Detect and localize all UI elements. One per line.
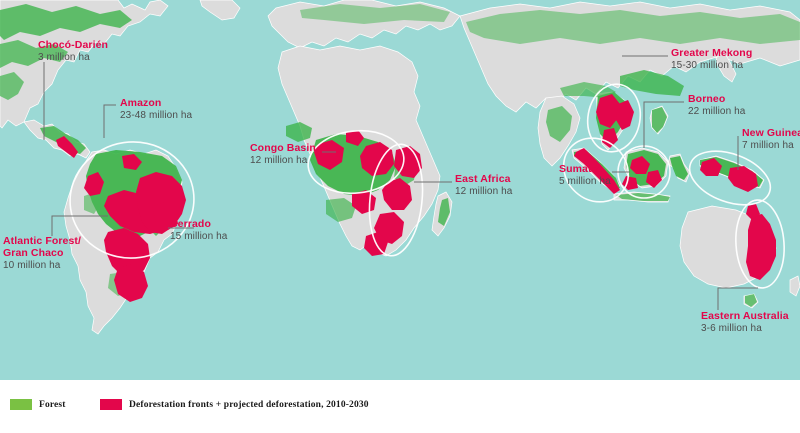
label-new-guinea-value: 7 million ha: [742, 140, 800, 151]
label-greater-mekong-value: 15-30 million ha: [671, 60, 752, 71]
label-amazon-value: 23-48 million ha: [120, 110, 192, 121]
legend-swatch-deforestation: [100, 399, 122, 410]
label-amazon-name: Amazon: [120, 98, 192, 110]
label-eastern-australia: Eastern Australia 3-6 million ha: [701, 311, 789, 334]
label-choco-darien-value: 3 million ha: [38, 52, 108, 63]
label-east-africa-value: 12 million ha: [455, 186, 512, 197]
label-sumatra: Sumatra 5 million ha: [559, 164, 611, 187]
label-borneo-name: Borneo: [688, 94, 745, 106]
label-cerrado-name: Cerrado: [170, 219, 227, 231]
world-map: Chocó-Darién 3 million ha Amazon 23-48 m…: [0, 0, 800, 380]
label-atlantic-forest-name-line2: Gran Chaco: [3, 248, 81, 260]
legend-label-deforestation: Deforestation fronts + projected defores…: [129, 400, 369, 410]
legend-swatch-forest: [10, 399, 32, 410]
map-legend: Forest Deforestation fronts + projected …: [0, 380, 800, 433]
label-atlantic-forest-name-line1: Atlantic Forest/: [3, 236, 81, 248]
label-sumatra-value: 5 million ha: [559, 176, 611, 187]
label-choco-darien-name: Chocó-Darién: [38, 40, 108, 52]
label-congo-basin-name: Congo Basin: [250, 143, 316, 155]
label-congo-basin-value: 12 million ha: [250, 155, 316, 166]
label-borneo-value: 22 million ha: [688, 106, 745, 117]
label-greater-mekong-name: Greater Mekong: [671, 48, 752, 60]
deforestation-fronts-map-page: Chocó-Darién 3 million ha Amazon 23-48 m…: [0, 0, 800, 433]
label-cerrado-value: 15 million ha: [170, 231, 227, 242]
label-eastern-australia-value: 3-6 million ha: [701, 323, 789, 334]
label-borneo: Borneo 22 million ha: [688, 94, 745, 117]
legend-item-deforestation: Deforestation fronts + projected defores…: [100, 399, 369, 410]
label-congo-basin: Congo Basin 12 million ha: [250, 143, 316, 166]
label-new-guinea: New Guinea 7 million ha: [742, 128, 800, 151]
label-new-guinea-name: New Guinea: [742, 128, 800, 140]
label-sumatra-name: Sumatra: [559, 164, 611, 176]
label-eastern-australia-name: Eastern Australia: [701, 311, 789, 323]
label-east-africa: East Africa 12 million ha: [455, 174, 512, 197]
label-greater-mekong: Greater Mekong 15-30 million ha: [671, 48, 752, 71]
label-atlantic-forest: Atlantic Forest/ Gran Chaco 10 million h…: [3, 236, 81, 271]
label-cerrado: Cerrado 15 million ha: [170, 219, 227, 242]
label-east-africa-name: East Africa: [455, 174, 512, 186]
label-choco-darien: Chocó-Darién 3 million ha: [38, 40, 108, 63]
label-atlantic-forest-value: 10 million ha: [3, 260, 81, 271]
legend-label-forest: Forest: [39, 400, 66, 410]
legend-item-forest: Forest: [10, 399, 66, 410]
label-amazon: Amazon 23-48 million ha: [120, 98, 192, 121]
